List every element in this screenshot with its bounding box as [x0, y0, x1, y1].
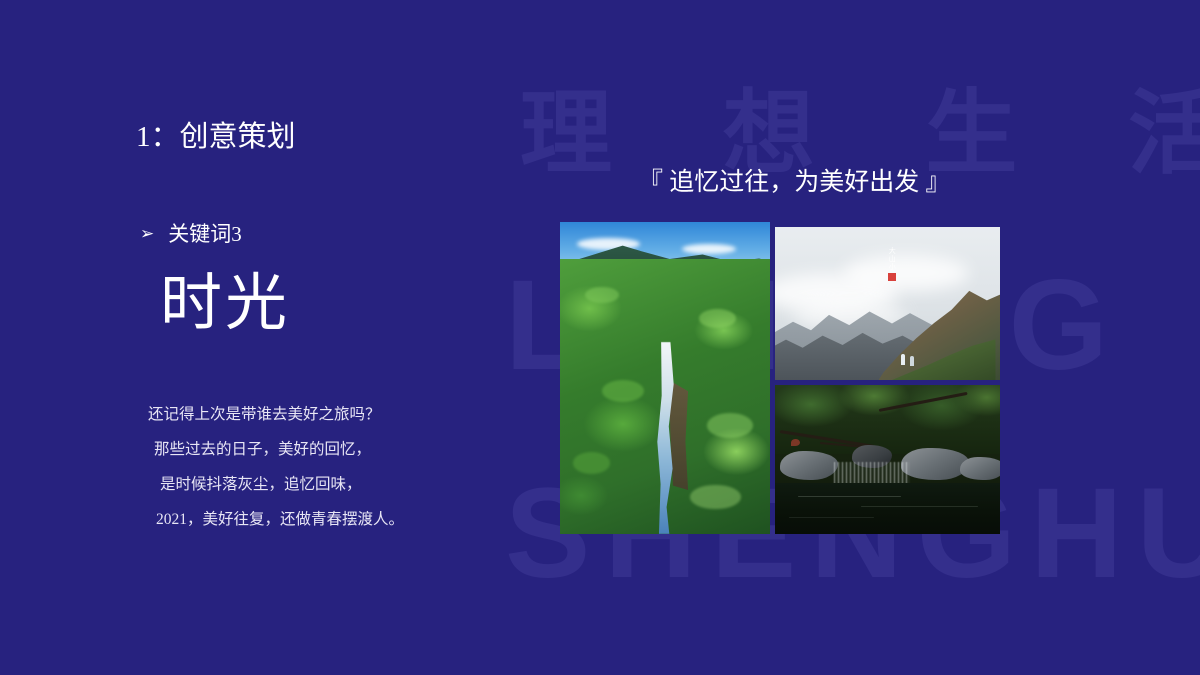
- hiker: [901, 354, 905, 365]
- photo-stamp: 大 山 小: [885, 248, 899, 281]
- arrow-bullet-icon: ➢: [140, 226, 154, 243]
- rock: [901, 448, 969, 481]
- red-leaf: [791, 439, 800, 446]
- hiker: [910, 356, 914, 366]
- body-line-2: 那些过去的日子，美好的回忆，: [148, 433, 478, 468]
- right-column: 『 追忆过往，为美好出发 』: [520, 0, 1200, 675]
- body-line-4: 2021，美好往复，还做青春摆渡人。: [148, 503, 478, 538]
- canopy-highlight: [707, 413, 753, 438]
- stamp-char-2: 山: [885, 256, 899, 263]
- stamp-char-1: 大: [885, 248, 899, 255]
- forest-canopy: [560, 259, 770, 534]
- canopy-highlight: [585, 287, 619, 303]
- rock: [960, 457, 1001, 481]
- left-column: 1：创意策划 ➢ 关键词3 时光 还记得上次是带谁去美好之旅吗？ 那些过去的日子…: [0, 0, 520, 675]
- headline: 『 追忆过往，为美好出发 』: [638, 168, 951, 198]
- canopy-highlight: [699, 309, 737, 328]
- ripple: [798, 496, 902, 497]
- presentation-slide: 理 想 生 活 LIXIANG SHENGHUO 1：创意策划 ➢ 关键词3 时…: [0, 0, 1200, 675]
- ripple: [861, 506, 978, 507]
- ripple: [789, 517, 875, 518]
- pond-water: [775, 483, 1000, 534]
- body-line-1: 还记得上次是带谁去美好之旅吗？: [148, 398, 478, 433]
- rock: [780, 451, 839, 481]
- keyword-row: ➢ 关键词3: [140, 218, 242, 248]
- mist: [843, 255, 969, 292]
- canopy-highlight: [690, 485, 740, 510]
- section-title: 1：创意策划: [136, 120, 296, 155]
- big-keyword: 时光: [160, 272, 290, 337]
- body-line-3: 是时候抖落灰尘，追忆回味，: [148, 468, 478, 503]
- foliage: [775, 385, 1000, 454]
- photo-garden-pond: [775, 385, 1000, 534]
- photo-misty-ridge: 大 山 小: [775, 227, 1000, 380]
- body-copy: 还记得上次是带谁去美好之旅吗？ 那些过去的日子，美好的回忆， 是时候抖落灰尘，追…: [148, 398, 478, 538]
- canopy-highlight: [602, 380, 644, 402]
- canopy-highlight: [573, 452, 611, 474]
- stamp-char-3: 小: [885, 264, 899, 271]
- seal-icon: [888, 273, 896, 281]
- keyword-label: 关键词3: [168, 218, 242, 248]
- photo-aerial-waterfall: [560, 222, 770, 534]
